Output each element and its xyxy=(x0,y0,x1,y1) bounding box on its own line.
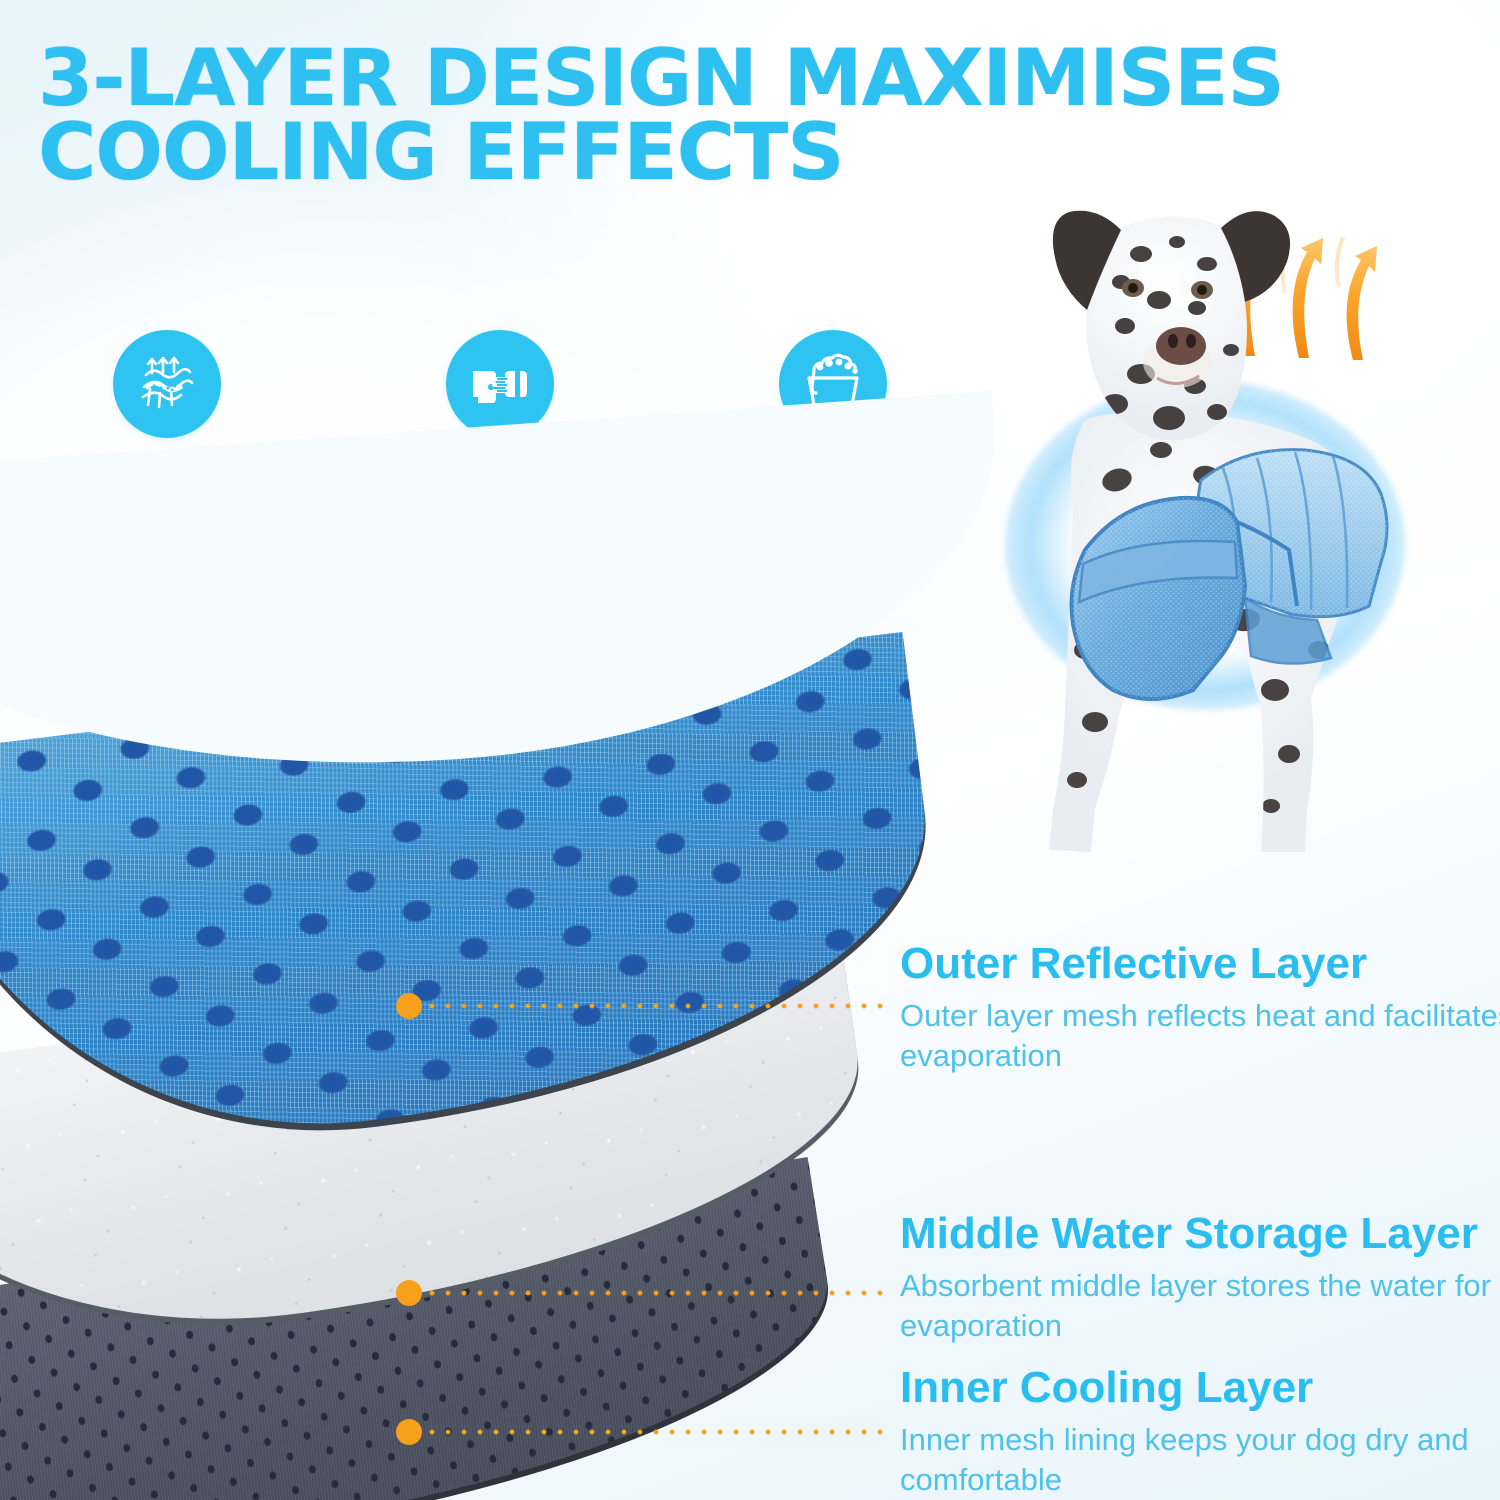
swatch-top-curve-mask xyxy=(0,391,1015,804)
dotted-line-middle xyxy=(428,1289,886,1297)
marker-dot-outer xyxy=(396,993,422,1019)
dalmatian-dog-with-vest xyxy=(945,150,1500,880)
leader-line-inner xyxy=(396,1425,886,1439)
dotted-line-outer xyxy=(428,1002,886,1010)
title-line-1: 3-LAYER DESIGN MAXIMISES xyxy=(38,42,1242,116)
leader-line-middle xyxy=(396,1286,886,1300)
layer-stack xyxy=(0,755,910,1500)
callout-inner-cooling-layer: Inner Cooling Layer Inner mesh lining ke… xyxy=(900,1362,1500,1500)
callout-body: Absorbent middle layer stores the water … xyxy=(900,1266,1500,1346)
callout-title: Inner Cooling Layer xyxy=(900,1362,1500,1414)
callout-title: Outer Reflective Layer xyxy=(900,938,1500,990)
product-photo xyxy=(945,150,1500,880)
infographic-page: 3-LAYER DESIGN MAXIMISES COOLING EFFECTS xyxy=(0,0,1500,1500)
callout-body: Outer layer mesh reflects heat and facil… xyxy=(900,996,1500,1076)
marker-dot-middle xyxy=(396,1280,422,1306)
callout-title: Middle Water Storage Layer xyxy=(900,1208,1500,1260)
callout-body: Inner mesh lining keeps your dog dry and… xyxy=(900,1420,1500,1500)
callout-outer-reflective-layer: Outer Reflective Layer Outer layer mesh … xyxy=(900,938,1500,1076)
breathable-fabric-icon xyxy=(113,330,221,438)
leader-line-outer xyxy=(396,999,886,1013)
marker-dot-inner xyxy=(396,1419,422,1445)
dotted-line-inner xyxy=(428,1428,886,1436)
callout-middle-water-storage-layer: Middle Water Storage Layer Absorbent mid… xyxy=(900,1208,1500,1346)
